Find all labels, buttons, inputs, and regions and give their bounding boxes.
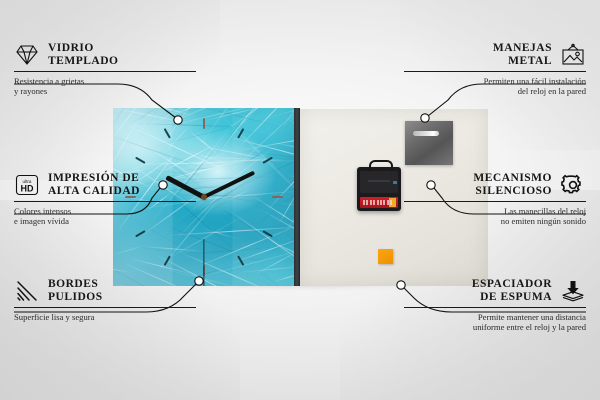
feature-divider [404,201,586,202]
clock-center-pin [201,194,207,200]
feature-description: Superficie lisa y segura [14,312,196,322]
feature-description: Las manecillas del relojno emiten ningún… [404,206,586,227]
feature-description: Permite mantener una distanciauniforme e… [404,312,586,333]
feature-divider [404,307,586,308]
battery-stripe [377,200,379,205]
feature-divider [14,201,196,202]
foam-spacer [378,249,393,264]
feature-header: VIDRIOTEMPLADO [14,42,196,68]
battery-compartment [360,197,398,208]
svg-text:HD: HD [21,184,34,194]
feature-polished-edges: BORDESPULIDOS Superficie lisa y segura [14,278,196,322]
battery-stripe [390,200,392,205]
mechanism-seam [368,180,390,182]
battery-stripe [366,200,368,205]
battery-stripe [370,200,372,205]
feature-divider [14,71,196,72]
feature-description: Resistencia a grietasy rayones [14,76,196,97]
picture-frame-icon [560,42,586,68]
feature-silent-mechanism: MECANISMOSILENCIOSO Las manecillas del r… [404,172,586,227]
feature-tempered-glass: VIDRIOTEMPLADO Resistencia a grietasy ra… [14,42,196,97]
feature-header: MECANISMOSILENCIOSO [404,172,586,198]
feature-header: ultra HD IMPRESIÓN DEALTA CALIDAD [14,172,196,198]
feature-title: IMPRESIÓN DEALTA CALIDAD [48,172,140,197]
battery-stripe [383,200,385,205]
battery-stripe [387,200,389,205]
feature-title: BORDESPULIDOS [48,278,103,303]
feature-header: ESPACIADORDE ESPUMA [404,278,586,304]
feature-title: MANEJASMETAL [493,42,552,67]
hanger-slot [413,131,439,136]
feature-metal-handles: MANEJASMETAL Permiten una fácil instalac… [404,42,586,97]
clock-second-hand [203,239,204,286]
feature-description: Colores intensose imagen vívida [14,206,196,227]
down-arrow-pad-icon [560,278,586,304]
feature-header: BORDESPULIDOS [14,278,196,304]
feature-divider [14,307,196,308]
ultra-hd-icon: ultra HD [14,172,40,198]
feature-divider [404,71,586,72]
feature-title: MECANISMOSILENCIOSO [473,172,552,197]
metal-hanger-plate [405,121,453,165]
feature-description: Permiten una fácil instalacióndel reloj … [404,76,586,97]
mechanism-label-dot [393,181,397,184]
battery-stripe [373,200,375,205]
feature-high-quality-print: ultra HD IMPRESIÓN DEALTA CALIDAD Colore… [14,172,196,227]
battery-stripe [380,200,382,205]
battery-stripe [363,200,365,205]
feature-foam-spacer: ESPACIADORDE ESPUMA Permite mantener una… [404,278,586,333]
clock-tick [272,196,283,198]
diamond-icon [14,42,40,68]
feature-title: ESPACIADORDE ESPUMA [472,278,552,303]
clock-tick [203,118,205,129]
feature-title: VIDRIOTEMPLADO [48,42,118,67]
clock-mechanism [357,167,401,211]
feature-header: MANEJASMETAL [404,42,586,68]
mechanism-hook [369,160,393,171]
infographic-canvas: VIDRIOTEMPLADO Resistencia a grietasy ra… [0,0,600,400]
gear-icon [560,172,586,198]
polished-edges-icon [14,278,40,304]
